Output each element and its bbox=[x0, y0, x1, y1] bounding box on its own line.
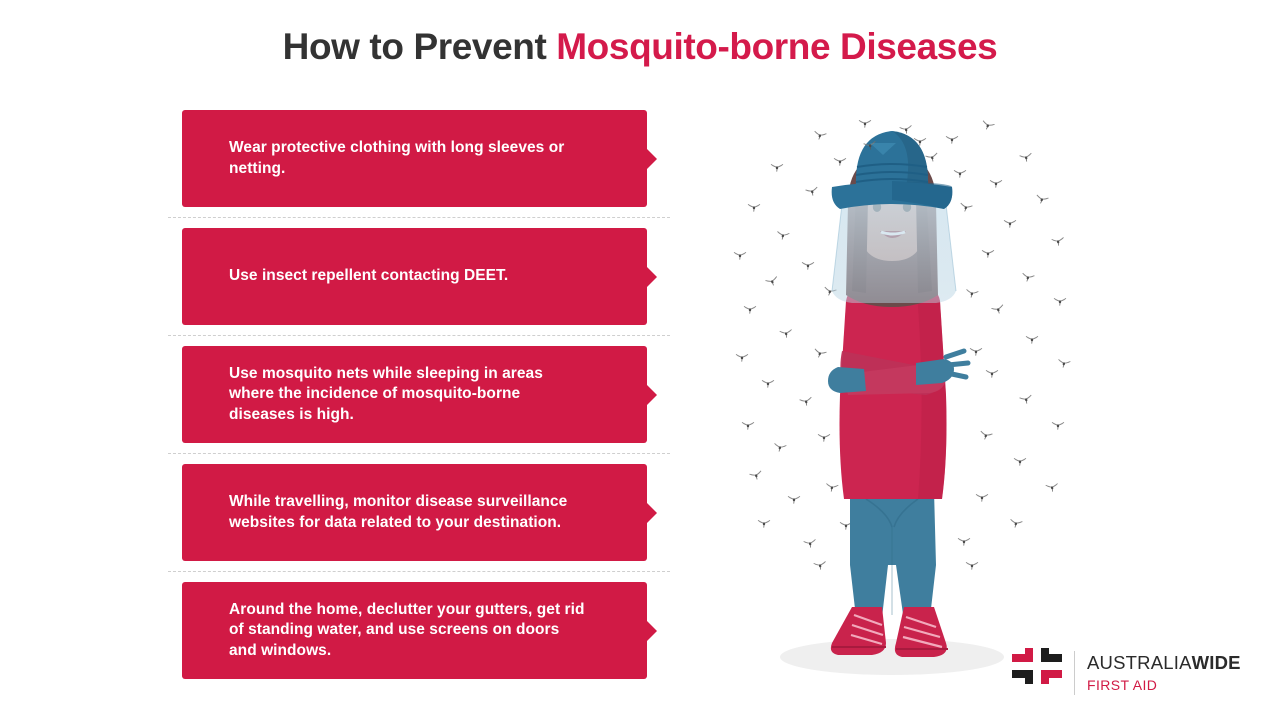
illustration-woman-with-mosquitoes bbox=[720, 95, 1080, 685]
logo-line-2: FIRST AID bbox=[1087, 678, 1241, 692]
logo-wordmark: AUSTRALIAWIDE FIRST AID bbox=[1087, 654, 1241, 692]
tip-row-5: Around the home, declutter your gutters,… bbox=[168, 582, 670, 679]
tip-box-4[interactable]: While travelling, monitor disease survei… bbox=[182, 464, 647, 561]
logo-divider bbox=[1074, 651, 1075, 695]
tip-text-2: Use insect repellent contacting DEET. bbox=[229, 266, 508, 287]
tip-row-3: Use mosquito nets while sleeping in area… bbox=[168, 346, 670, 443]
logo-cross-icon bbox=[1012, 648, 1062, 698]
tip-box-1[interactable]: Wear protective clothing with long sleev… bbox=[182, 110, 647, 207]
bucket-hat bbox=[832, 131, 953, 209]
tip-row-1: Wear protective clothing with long sleev… bbox=[168, 110, 670, 207]
tip-box-5[interactable]: Around the home, declutter your gutters,… bbox=[182, 582, 647, 679]
glove-left bbox=[828, 367, 866, 393]
logo-australia-text: AUSTRALIA bbox=[1087, 652, 1192, 673]
title-heading: How to Prevent Mosquito-borne Diseases bbox=[0, 26, 1280, 69]
tip-divider-2 bbox=[168, 335, 670, 336]
tip-divider-3 bbox=[168, 453, 670, 454]
shoe-left bbox=[831, 607, 886, 655]
logo-wide-text: WIDE bbox=[1192, 652, 1241, 673]
tip-row-2: Use insect repellent contacting DEET. bbox=[168, 228, 670, 325]
tip-text-4: While travelling, monitor disease survei… bbox=[229, 492, 589, 533]
cross-mark-svg bbox=[1012, 648, 1062, 698]
title-dark-part: How to Prevent bbox=[283, 26, 557, 67]
tip-text-1: Wear protective clothing with long sleev… bbox=[229, 138, 589, 179]
page-title: How to Prevent Mosquito-borne Diseases bbox=[0, 26, 1280, 69]
tip-box-3[interactable]: Use mosquito nets while sleeping in area… bbox=[182, 346, 647, 443]
logo-line-1: AUSTRALIAWIDE bbox=[1087, 654, 1241, 673]
illustration-svg bbox=[720, 95, 1080, 685]
title-red-part: Mosquito-borne Diseases bbox=[556, 26, 997, 67]
tip-box-2[interactable]: Use insect repellent contacting DEET. bbox=[182, 228, 647, 325]
infographic-poster: How to Prevent Mosquito-borne Diseases W… bbox=[0, 0, 1280, 720]
tip-divider-1 bbox=[168, 217, 670, 218]
woman-figure bbox=[828, 131, 968, 657]
ground-shadow bbox=[780, 639, 1004, 675]
prevention-tips-list: Wear protective clothing with long sleev… bbox=[168, 110, 670, 679]
tip-text-3: Use mosquito nets while sleeping in area… bbox=[229, 364, 589, 426]
shoe-right bbox=[895, 607, 948, 657]
tip-row-4: While travelling, monitor disease survei… bbox=[168, 464, 670, 561]
tip-divider-4 bbox=[168, 571, 670, 572]
tip-text-5: Around the home, declutter your gutters,… bbox=[229, 600, 589, 662]
australia-wide-first-aid-logo[interactable]: AUSTRALIAWIDE FIRST AID bbox=[1012, 648, 1241, 698]
